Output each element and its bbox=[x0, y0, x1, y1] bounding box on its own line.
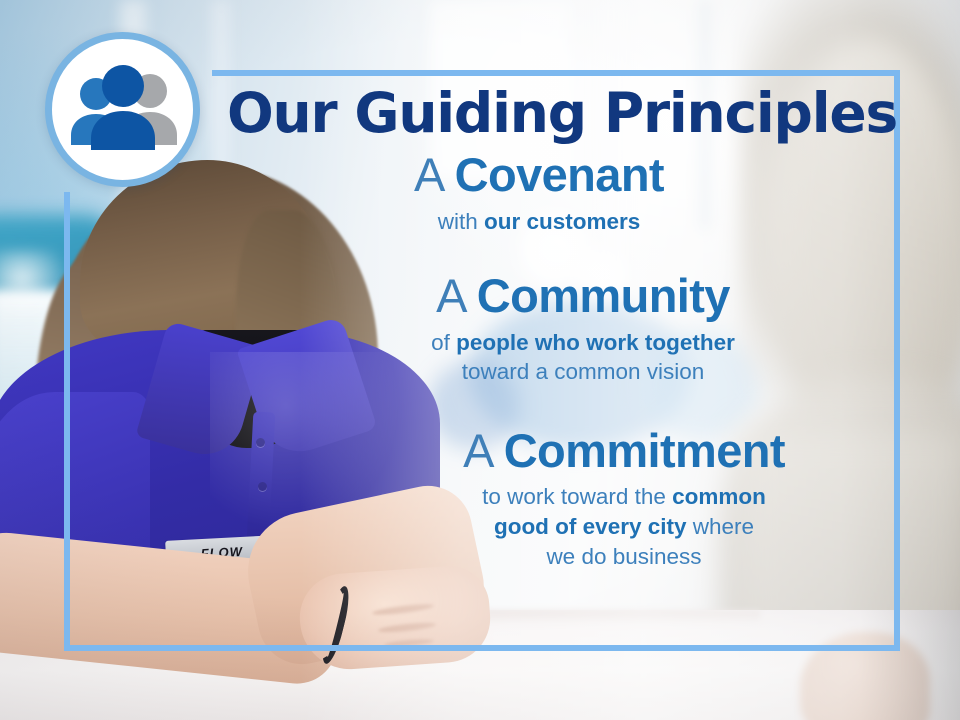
principle-covenant: A Covenant with our customers bbox=[200, 151, 900, 236]
principle-article: A bbox=[463, 424, 491, 477]
subline-strong: good of every city bbox=[494, 514, 687, 539]
subline-plain: to work toward the bbox=[482, 484, 672, 509]
principle-commitment: A Commitment to work toward the common g… bbox=[200, 427, 900, 572]
principle-word: Commitment bbox=[504, 424, 785, 477]
principle-subline: with our customers bbox=[200, 207, 878, 236]
principle-community: A Community of people who work together … bbox=[200, 272, 900, 386]
people-badge bbox=[45, 32, 200, 187]
principle-subline: of people who work together bbox=[266, 328, 900, 357]
principle-subtext: to work toward the common good of every … bbox=[348, 482, 900, 571]
principle-word: Community bbox=[477, 269, 730, 322]
page-title: Our Guiding Principles bbox=[224, 86, 900, 141]
principle-subtext: with our customers bbox=[200, 207, 878, 236]
banner-graphic: FLOW AUTOMOTIVE FLOW bbox=[0, 0, 960, 720]
principle-heading: A Commitment bbox=[348, 427, 900, 476]
principle-subline: toward a common vision bbox=[266, 357, 900, 386]
principle-subline: to work toward the common bbox=[348, 482, 900, 512]
principle-article: A bbox=[414, 148, 442, 201]
subline-plain: toward a common vision bbox=[462, 359, 705, 384]
principle-heading: A Community bbox=[266, 272, 900, 321]
principle-heading: A Covenant bbox=[200, 151, 878, 200]
subline-strong: our customers bbox=[484, 209, 640, 234]
subline-plain: we do business bbox=[546, 544, 701, 569]
subline-strong: people who work together bbox=[456, 330, 735, 355]
principle-subline: good of every city where bbox=[348, 512, 900, 542]
subline-plain: of bbox=[431, 330, 456, 355]
subline-plain: with bbox=[438, 209, 484, 234]
people-group-icon bbox=[67, 64, 179, 156]
text-block: Our Guiding Principles A Covenant with o… bbox=[200, 86, 900, 571]
principle-word: Covenant bbox=[455, 148, 664, 201]
principle-subline: we do business bbox=[348, 542, 900, 572]
subline-plain: where bbox=[687, 514, 755, 539]
subline-strong: common bbox=[672, 484, 766, 509]
principle-article: A bbox=[436, 269, 464, 322]
principle-subtext: of people who work together toward a com… bbox=[266, 328, 900, 387]
